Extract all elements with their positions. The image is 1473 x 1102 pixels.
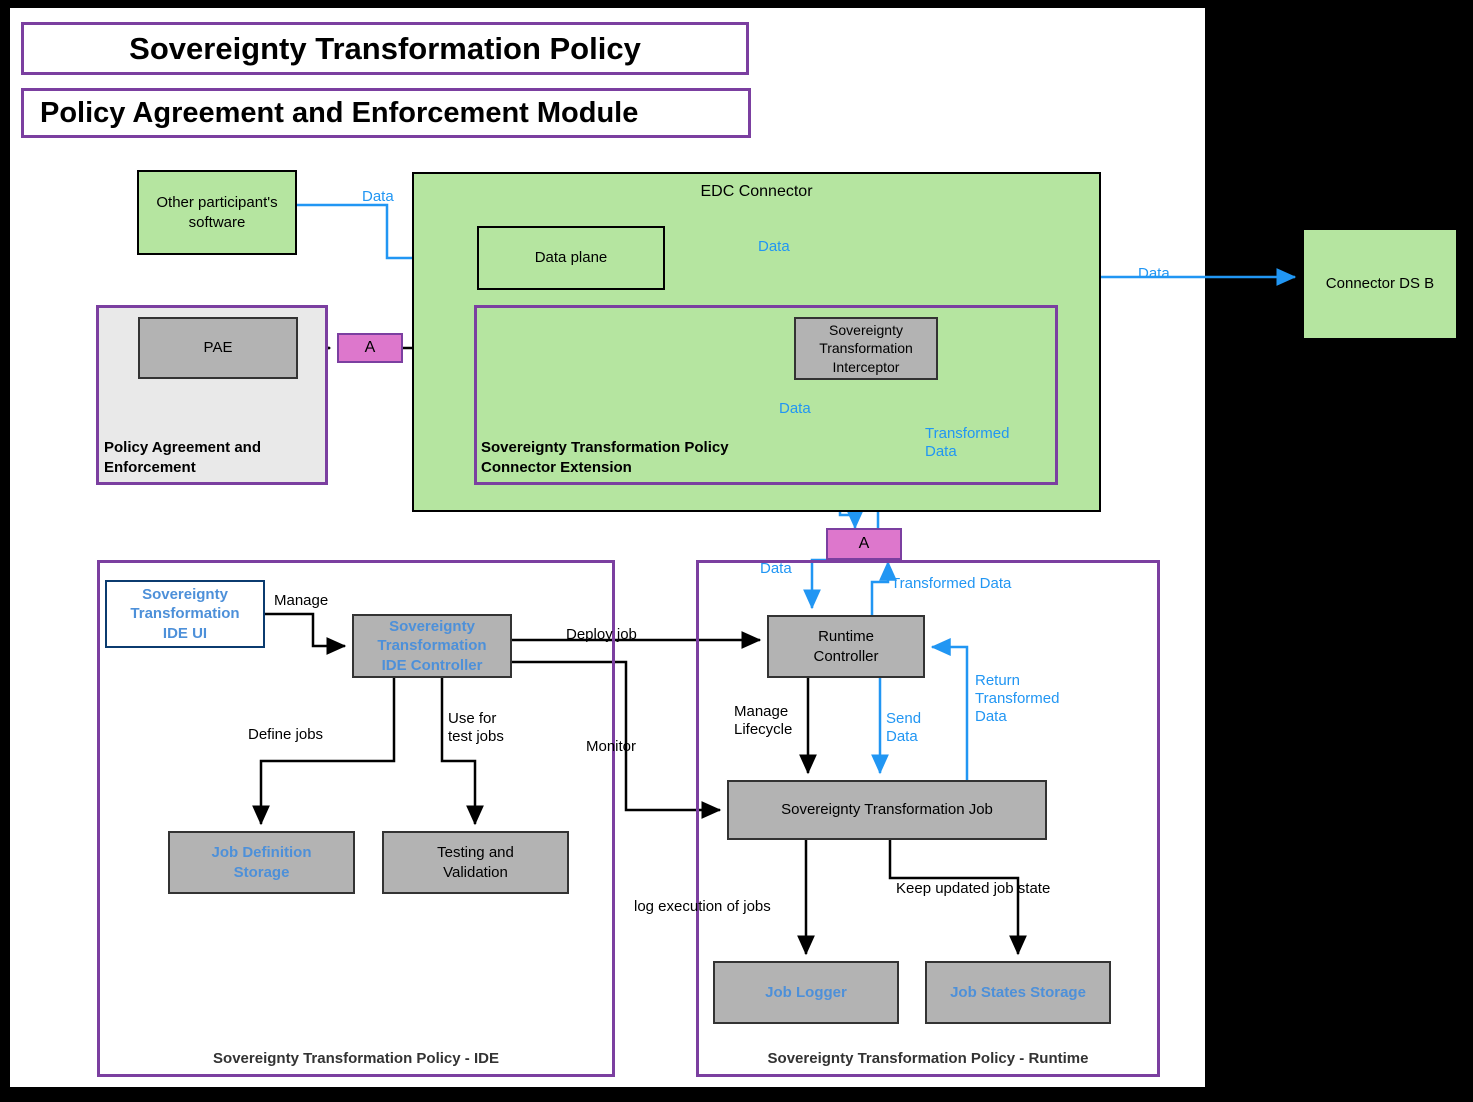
stp-connector-extension-label: Sovereignty Transformation Policy Connec…	[481, 438, 841, 479]
edge-label-transformed-data-up: Transformed Data	[925, 425, 1009, 461]
sovereignty-transformation-interceptor-node[interactable]: Sovereignty Transformation Interceptor	[794, 317, 938, 380]
edc-connector-label: EDC Connector	[412, 180, 1101, 204]
connector-ds-b-node[interactable]: Connector DS B	[1302, 228, 1458, 340]
sovereignty-transformation-ide-controller-node[interactable]: Sovereignty Transformation IDE Controlle…	[352, 614, 512, 678]
edge-label-deploy-job: Deploy job	[566, 626, 637, 644]
edge-label-use-for-test-jobs: Use for test jobs	[448, 710, 504, 746]
edge-label-data-to-runtime: Data	[760, 560, 792, 578]
edge-label-data-to-ds-b: Data	[1138, 265, 1170, 283]
edge-label-data-plane-out: Data	[758, 238, 790, 256]
edge-label-keep-updated-job-state: Keep updated job state	[896, 880, 1050, 898]
module-title: Policy Agreement and Enforcement Module	[21, 88, 751, 138]
testing-and-validation-node[interactable]: Testing and Validation	[382, 831, 569, 894]
pae-node[interactable]: PAE	[138, 317, 298, 379]
data-plane-node[interactable]: Data plane	[477, 226, 665, 290]
sovereignty-transformation-ide-ui-node[interactable]: Sovereignty Transformation IDE UI	[105, 580, 265, 648]
job-states-storage-node[interactable]: Job States Storage	[925, 961, 1111, 1024]
other-participant-software-node[interactable]: Other participant's software	[137, 170, 297, 255]
edge-label-return-transformed-data: Return Transformed Data	[975, 672, 1059, 726]
edge-label-data-interceptor-down: Data	[779, 400, 811, 418]
diagram-root: Sovereignty Transformation Policy Policy…	[0, 0, 1473, 1102]
stp-ide-label: Sovereignty Transformation Policy - IDE	[97, 1050, 615, 1067]
job-definition-storage-node[interactable]: Job Definition Storage	[168, 831, 355, 894]
edge-label-manage: Manage	[274, 592, 328, 610]
edge-label-define-jobs: Define jobs	[248, 726, 323, 744]
edge-label-send-data: Send Data	[886, 710, 921, 746]
edge-label-data-participant: Data	[362, 188, 394, 206]
connector-a-top[interactable]: A	[337, 333, 403, 363]
job-logger-node[interactable]: Job Logger	[713, 961, 899, 1024]
page-title: Sovereignty Transformation Policy	[21, 22, 749, 75]
sovereignty-transformation-job-node[interactable]: Sovereignty Transformation Job	[727, 780, 1047, 840]
edge-label-log-execution-of-jobs: log execution of jobs	[634, 898, 771, 916]
edge-label-transformed-data-to-a: Transformed Data	[891, 575, 1011, 593]
runtime-controller-node[interactable]: Runtime Controller	[767, 615, 925, 678]
policy-agreement-enforcement-label: Policy Agreement and Enforcement	[104, 438, 320, 479]
connector-a-bottom[interactable]: A	[826, 528, 902, 560]
stp-runtime-label: Sovereignty Transformation Policy - Runt…	[696, 1050, 1160, 1067]
edge-label-monitor: Monitor	[586, 738, 636, 756]
edge-label-manage-lifecycle: Manage Lifecycle	[734, 703, 792, 739]
